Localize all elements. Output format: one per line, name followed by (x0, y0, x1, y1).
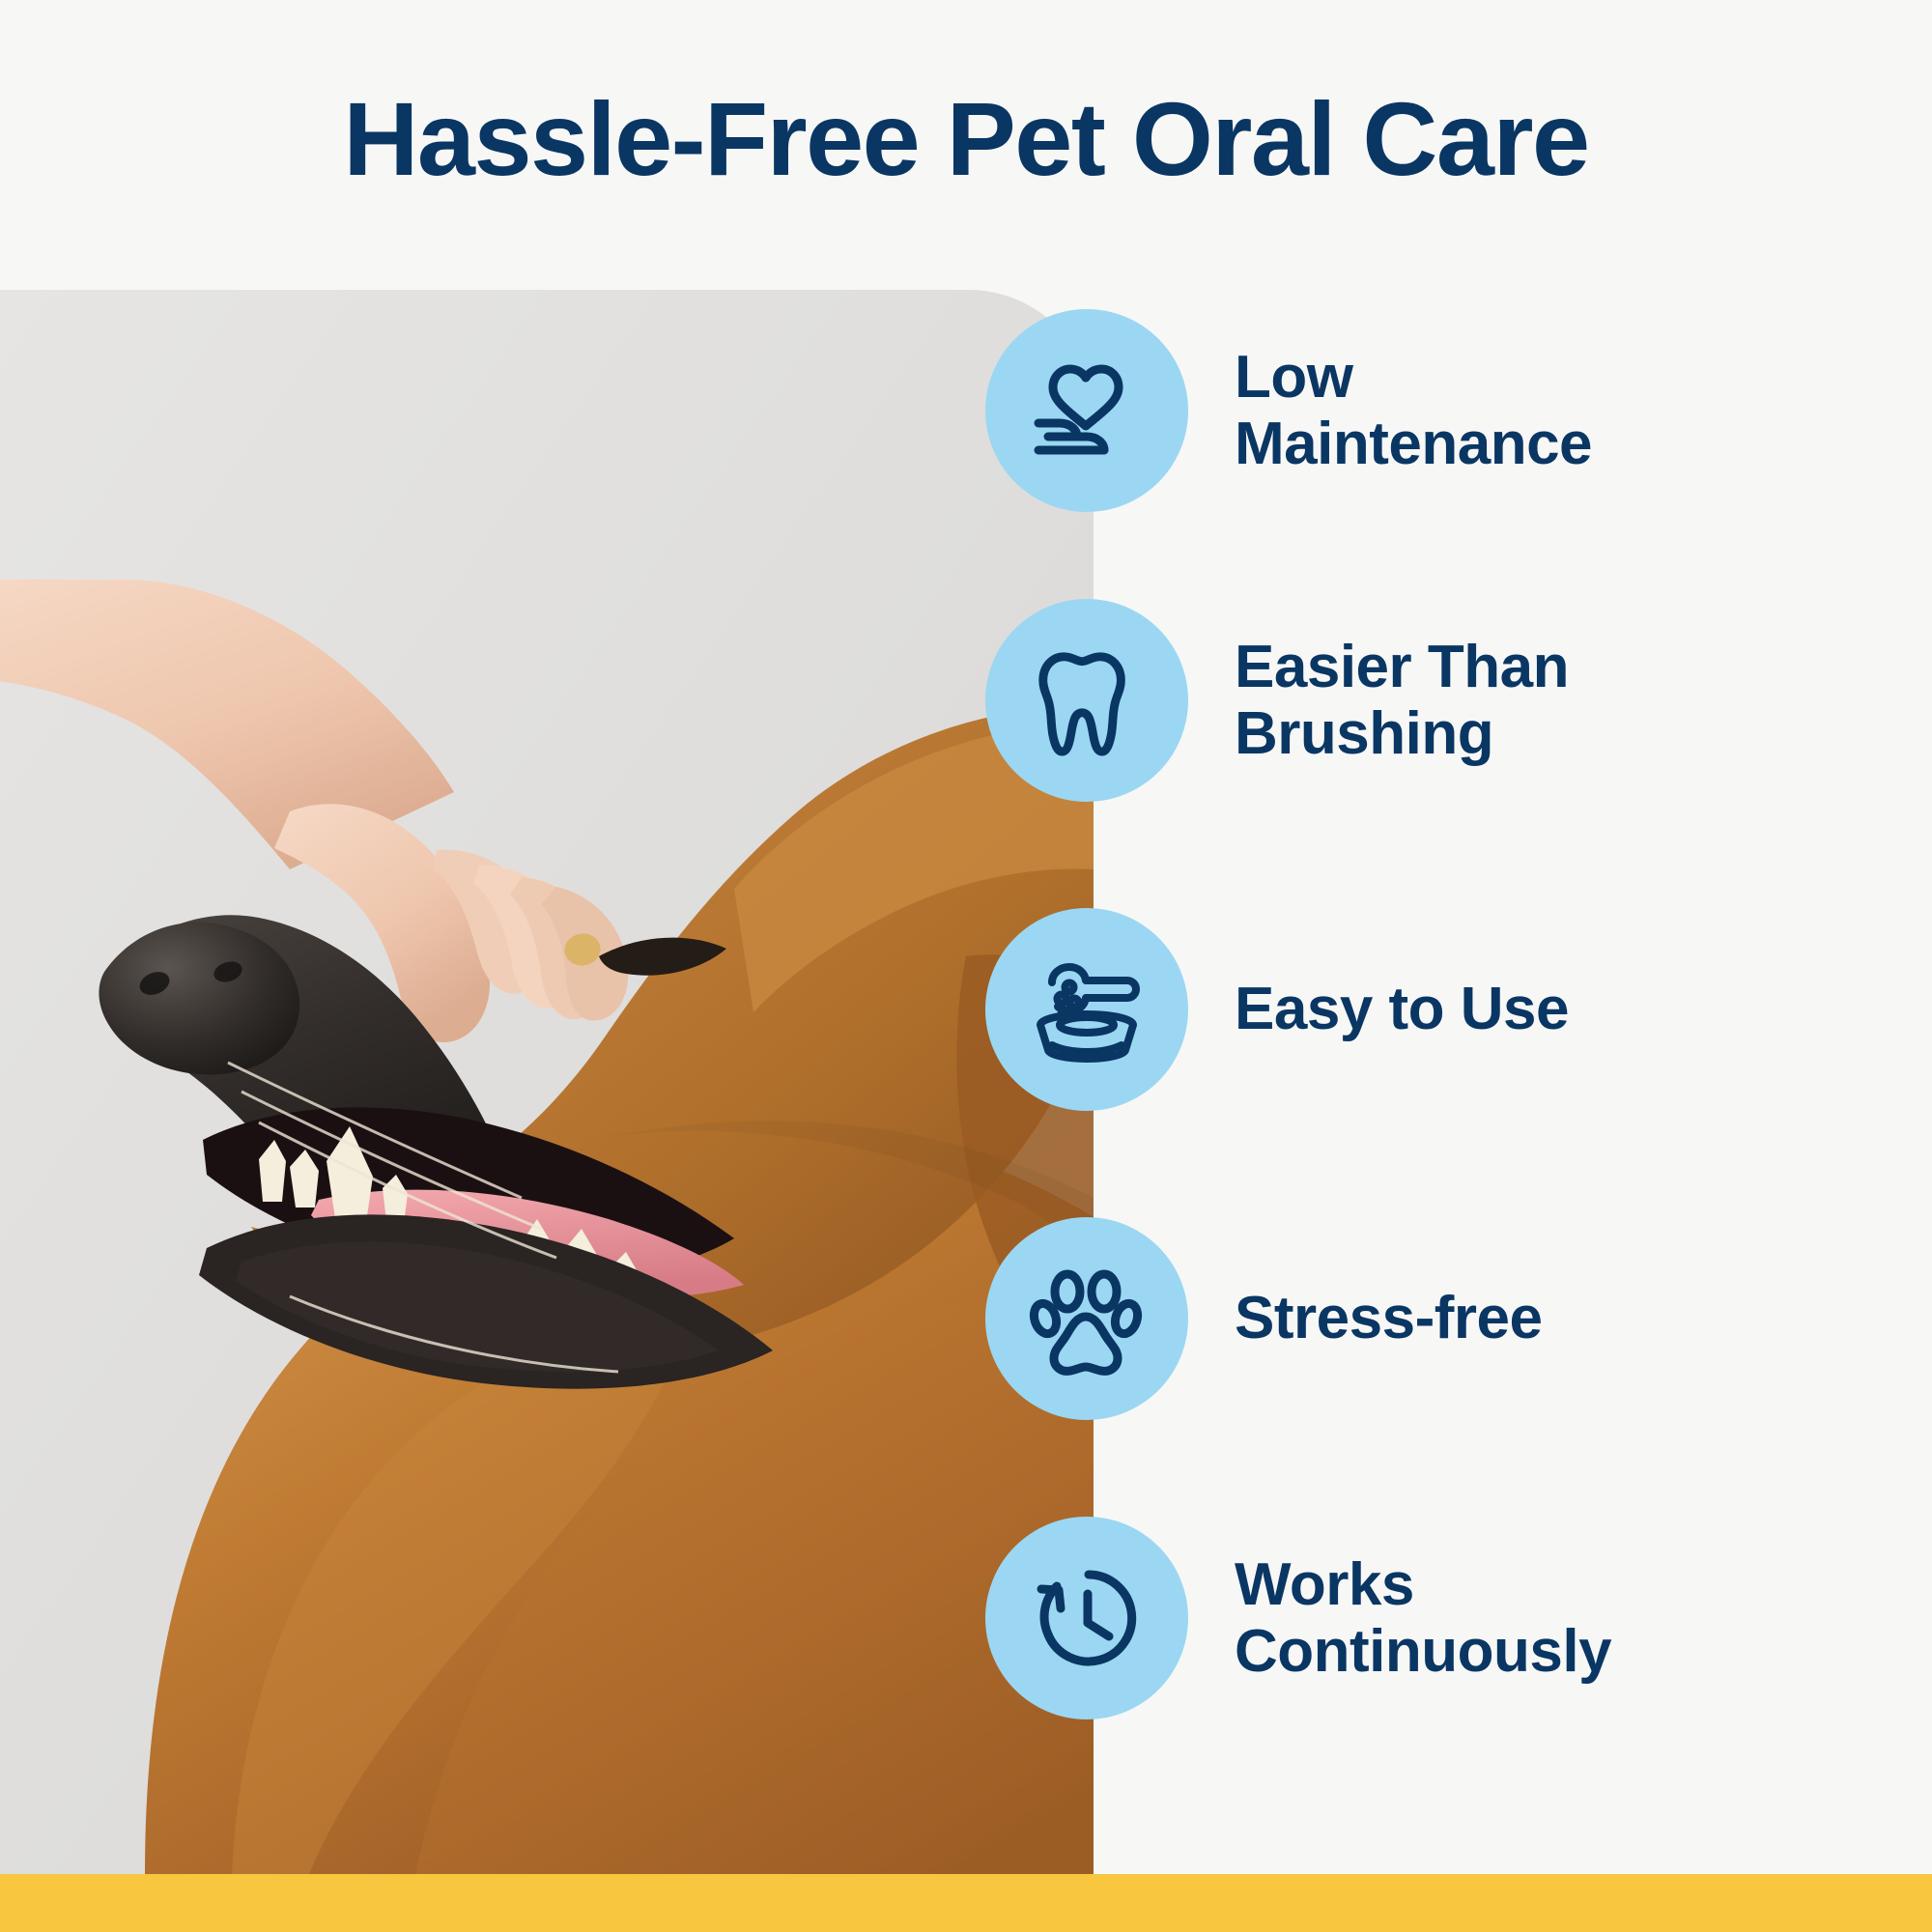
footer-accent-bar (0, 1874, 1932, 1932)
feature-row-low-maintenance[interactable]: Low Maintenance (985, 309, 1932, 512)
feature-label: Stress-free (1235, 1285, 1542, 1351)
feature-label: Works Continuously (1235, 1551, 1611, 1686)
feature-row-stress-free[interactable]: Stress-free (985, 1217, 1932, 1420)
scoop-bowl-icon (985, 908, 1188, 1111)
page-title: Hassle-Free Pet Oral Care (343, 87, 1588, 191)
feature-row-works-continuously[interactable]: Works Continuously (985, 1517, 1932, 1719)
feature-label: Low Maintenance (1235, 344, 1592, 478)
feature-label: Easy to Use (1235, 976, 1569, 1042)
feature-row-easier-than-brushing[interactable]: Easier Than Brushing (985, 599, 1932, 802)
clock-arrow-icon (985, 1517, 1188, 1719)
paw-print-icon (985, 1217, 1188, 1420)
tooth-icon (985, 599, 1188, 802)
feature-list: Low Maintenance Easier Than Brushing (985, 290, 1932, 1874)
heart-relax-icon (985, 309, 1188, 512)
feature-row-easy-to-use[interactable]: Easy to Use (985, 908, 1932, 1111)
hero-photo-panel (0, 290, 1094, 1874)
feature-label: Easier Than Brushing (1235, 634, 1569, 768)
dog-photo (0, 290, 1094, 1874)
infographic-canvas: Hassle-Free Pet Oral Care (0, 0, 1932, 1932)
title-bar: Hassle-Free Pet Oral Care (0, 0, 1932, 290)
